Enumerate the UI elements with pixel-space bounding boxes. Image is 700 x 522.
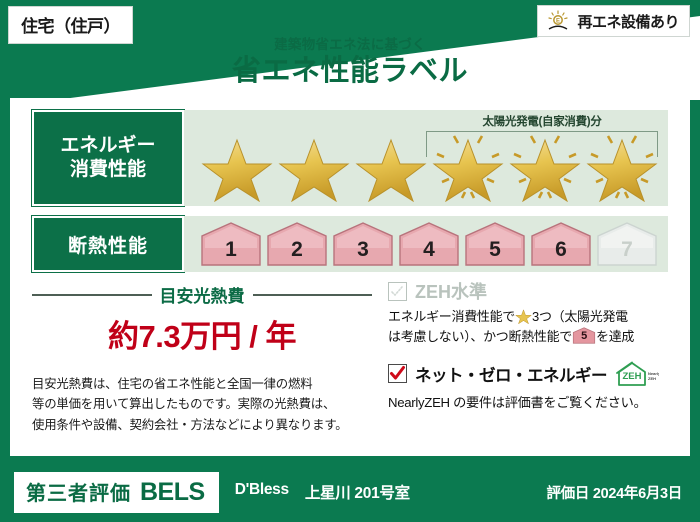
utility-cost-title: 目安光熱費 <box>160 282 245 307</box>
energy-performance-label: 住宅（住戸） E 再エネ設備あり 建築物省エネ法に基づく 省エネ性能ラベル エネ… <box>0 0 700 522</box>
svg-text:E: E <box>556 19 560 25</box>
netzero-row: ネット・ゼロ・エネルギー ZEH Nearly ZEH <box>388 361 680 387</box>
star-6-solar <box>586 132 658 202</box>
inline-grade-value: 5 <box>572 329 596 345</box>
note-line-1: 目安光熱費は、住宅の省エネ性能と全国一律の燃料 <box>32 374 372 394</box>
title-main: 省エネ性能ラベル <box>0 55 700 88</box>
utility-cost-value: 約7.3万円 / 年 <box>32 311 372 356</box>
insulation-grade-7: 7 <box>596 221 658 267</box>
note-line-3: 使用条件や設備、契約会社・方法などにより異なります。 <box>32 415 372 435</box>
zeh-desc-part4: を達成 <box>596 329 634 344</box>
star-rating-group <box>184 130 668 204</box>
insulation-grade-4: 4 <box>398 221 460 267</box>
property-unit: 上星川 201号室 <box>305 481 410 503</box>
footer-bar: 第三者評価 BELS D'Bless 上星川 201号室 評価日 2024年6月… <box>0 462 700 522</box>
zeh-standard-title: ZEH水準 <box>415 278 487 304</box>
insulation-grade-group: 1 2 3 4 5 <box>184 216 668 272</box>
bels-certification-box: 第三者評価 BELS <box>14 472 219 513</box>
zeh-desc-part1: エネルギー消費性能で <box>388 309 515 324</box>
inline-star-icon <box>515 308 532 324</box>
insulation-grade-1: 1 <box>200 221 262 267</box>
netzero-block: ネット・ゼロ・エネルギー ZEH Nearly ZEH NearlyZEH の要… <box>388 361 680 411</box>
zeh-house-logo: ZEH Nearly ZEH <box>615 361 659 387</box>
document-type-chip: 住宅（住戸） <box>8 6 133 44</box>
utility-cost-note: 目安光熱費は、住宅の省エネ性能と全国一律の燃料 等の単価を用いて算出したものです… <box>32 374 372 435</box>
utility-cost-section: 目安光熱費 約7.3万円 / 年 目安光熱費は、住宅の省エネ性能と全国一律の燃料… <box>32 282 372 435</box>
insulation-grade-5: 5 <box>464 221 526 267</box>
energy-stars-panel: 太陽光発電(自家消費)分 <box>184 110 668 206</box>
energy-label-line2: 消費性能 <box>70 158 146 182</box>
sun-icon: E <box>546 10 570 32</box>
star-1 <box>201 132 273 202</box>
note-line-2: 等の単価を用いて算出したものです。実際の光熱費は、 <box>32 394 372 414</box>
property-name: D'Bless <box>235 481 289 503</box>
zeh-section: ZEH水準 エネルギー消費性能で3つ（太陽光発電は考慮しない）、かつ断熱性能で5… <box>388 278 680 411</box>
renewable-badge-label: 再エネ設備あり <box>577 11 679 32</box>
evaluation-date: 評価日 2024年6月3日 <box>546 482 682 503</box>
zeh-standard-description: エネルギー消費性能で3つ（太陽光発電は考慮しない）、かつ断熱性能で5を達成 <box>388 308 680 347</box>
dotted-check-icon <box>390 284 405 299</box>
utility-cost-heading: 目安光熱費 <box>32 282 372 307</box>
insulation-grade-6: 6 <box>530 221 592 267</box>
insulation-performance-row: 断熱性能 1 2 3 <box>32 216 668 272</box>
zeh-logo-text: ZEH <box>623 371 642 382</box>
zeh-desc-part2: 3つ（太陽光発電 <box>532 309 628 324</box>
star-2 <box>278 132 350 202</box>
insulation-performance-label: 断熱性能 <box>32 216 184 272</box>
bels-logo-text: BELS <box>140 478 205 507</box>
insulation-grade-2: 2 <box>266 221 328 267</box>
insulation-grade-3: 3 <box>332 221 394 267</box>
rule-right <box>253 294 373 296</box>
inline-grade-badge: 5 <box>572 327 596 344</box>
rule-left <box>32 294 152 296</box>
title-block: 建築物省エネ法に基づく 省エネ性能ラベル <box>0 38 700 88</box>
netzero-description: NearlyZEH の要件は評価書をご覧ください。 <box>388 392 680 411</box>
star-3 <box>355 132 427 202</box>
renewable-equipment-badge: E 再エネ設備あり <box>537 5 690 37</box>
solar-bracket-label: 太陽光発電(自家消費)分 <box>426 113 658 129</box>
zeh-standard-row: ZEH水準 <box>388 278 680 304</box>
main-card: エネルギー 消費性能 太陽光発電(自家消費)分 <box>10 98 690 456</box>
insulation-grades-panel: 1 2 3 4 5 <box>184 216 668 272</box>
property-info: D'Bless 上星川 201号室 <box>235 481 410 503</box>
energy-performance-row: エネルギー 消費性能 太陽光発電(自家消費)分 <box>32 110 668 206</box>
energy-label-line1: エネルギー <box>60 134 155 158</box>
star-5-solar <box>509 132 581 202</box>
star-4-solar <box>432 132 504 202</box>
energy-performance-label: エネルギー 消費性能 <box>32 110 184 206</box>
zeh-desc-part3: は考慮しない）、かつ断熱性能で <box>388 329 572 344</box>
zeh-logo-sub2: ZEH <box>648 376 656 381</box>
netzero-checkbox[interactable] <box>388 364 407 383</box>
netzero-title: ネット・ゼロ・エネルギー <box>415 362 607 386</box>
check-icon <box>389 365 406 382</box>
document-type-label: 住宅（住戸） <box>21 17 120 36</box>
zeh-standard-checkbox[interactable] <box>388 282 407 301</box>
bels-jp-label: 第三者評価 <box>26 477 131 506</box>
